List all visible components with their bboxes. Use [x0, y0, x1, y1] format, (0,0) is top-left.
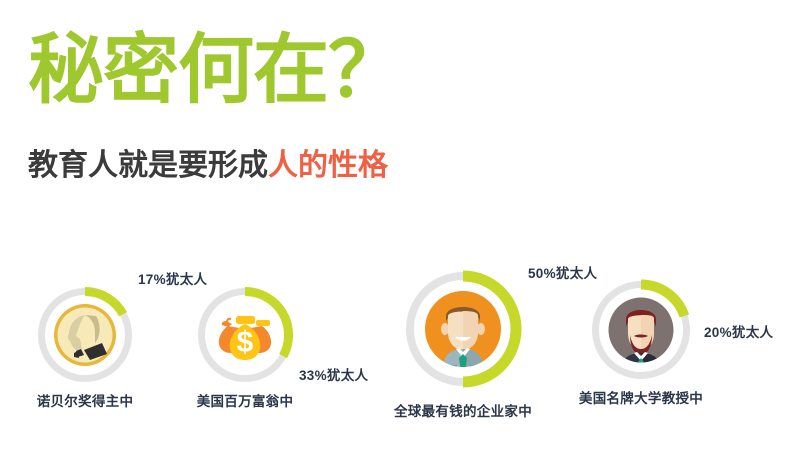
svg-text:$: $: [237, 326, 254, 359]
stat-caption-nobel: 诺贝尔奖得主中: [23, 390, 147, 410]
progress-ring-professors: [592, 281, 690, 379]
stat-item-nobel[interactable]: 17%犹太人 诺贝尔奖得主中: [38, 288, 132, 382]
businessman-avatar-icon: [421, 287, 505, 372]
professor-avatar-icon: [605, 294, 677, 375]
slide-canvas: 秘密何在？ 教育人就是要形成人的性格: [0, 0, 800, 469]
progress-ring-millionaires: $: [198, 288, 292, 382]
stat-caption-entrepreneurs: 全球最有钱的企业家中: [381, 400, 545, 420]
subtitle-accent-part: 人的性格: [268, 149, 388, 182]
stat-percent-entrepreneurs: 50%犹太人: [528, 262, 597, 282]
subtitle-dark-part: 教育人就是要形成: [28, 149, 268, 182]
stat-percent-professors: 20%犹太人: [704, 321, 773, 341]
progress-ring-nobel: [38, 288, 132, 382]
page-title: 秘密何在？: [28, 30, 403, 112]
stat-item-professors[interactable]: 20%犹太人 美国名牌大学教授中: [592, 281, 690, 379]
progress-ring-entrepreneurs: [406, 272, 520, 386]
stat-caption-professors: 美国名牌大学教授中: [576, 387, 706, 407]
stat-caption-millionaires: 美国百万富翁中: [183, 390, 307, 410]
page-subtitle: 教育人就是要形成人的性格: [28, 148, 388, 184]
stat-percent-nobel: 17%犹太人: [138, 268, 207, 288]
stat-item-millionaires[interactable]: $ 33%犹太人 美国百万富翁中: [198, 288, 292, 382]
stat-percent-millionaires: 33%犹太人: [299, 364, 368, 384]
money-bags-icon: $: [211, 301, 279, 369]
stat-item-entrepreneurs[interactable]: 50%犹太人 全球最有钱的企业家中: [406, 272, 520, 386]
nobel-medal-icon: [51, 301, 119, 369]
